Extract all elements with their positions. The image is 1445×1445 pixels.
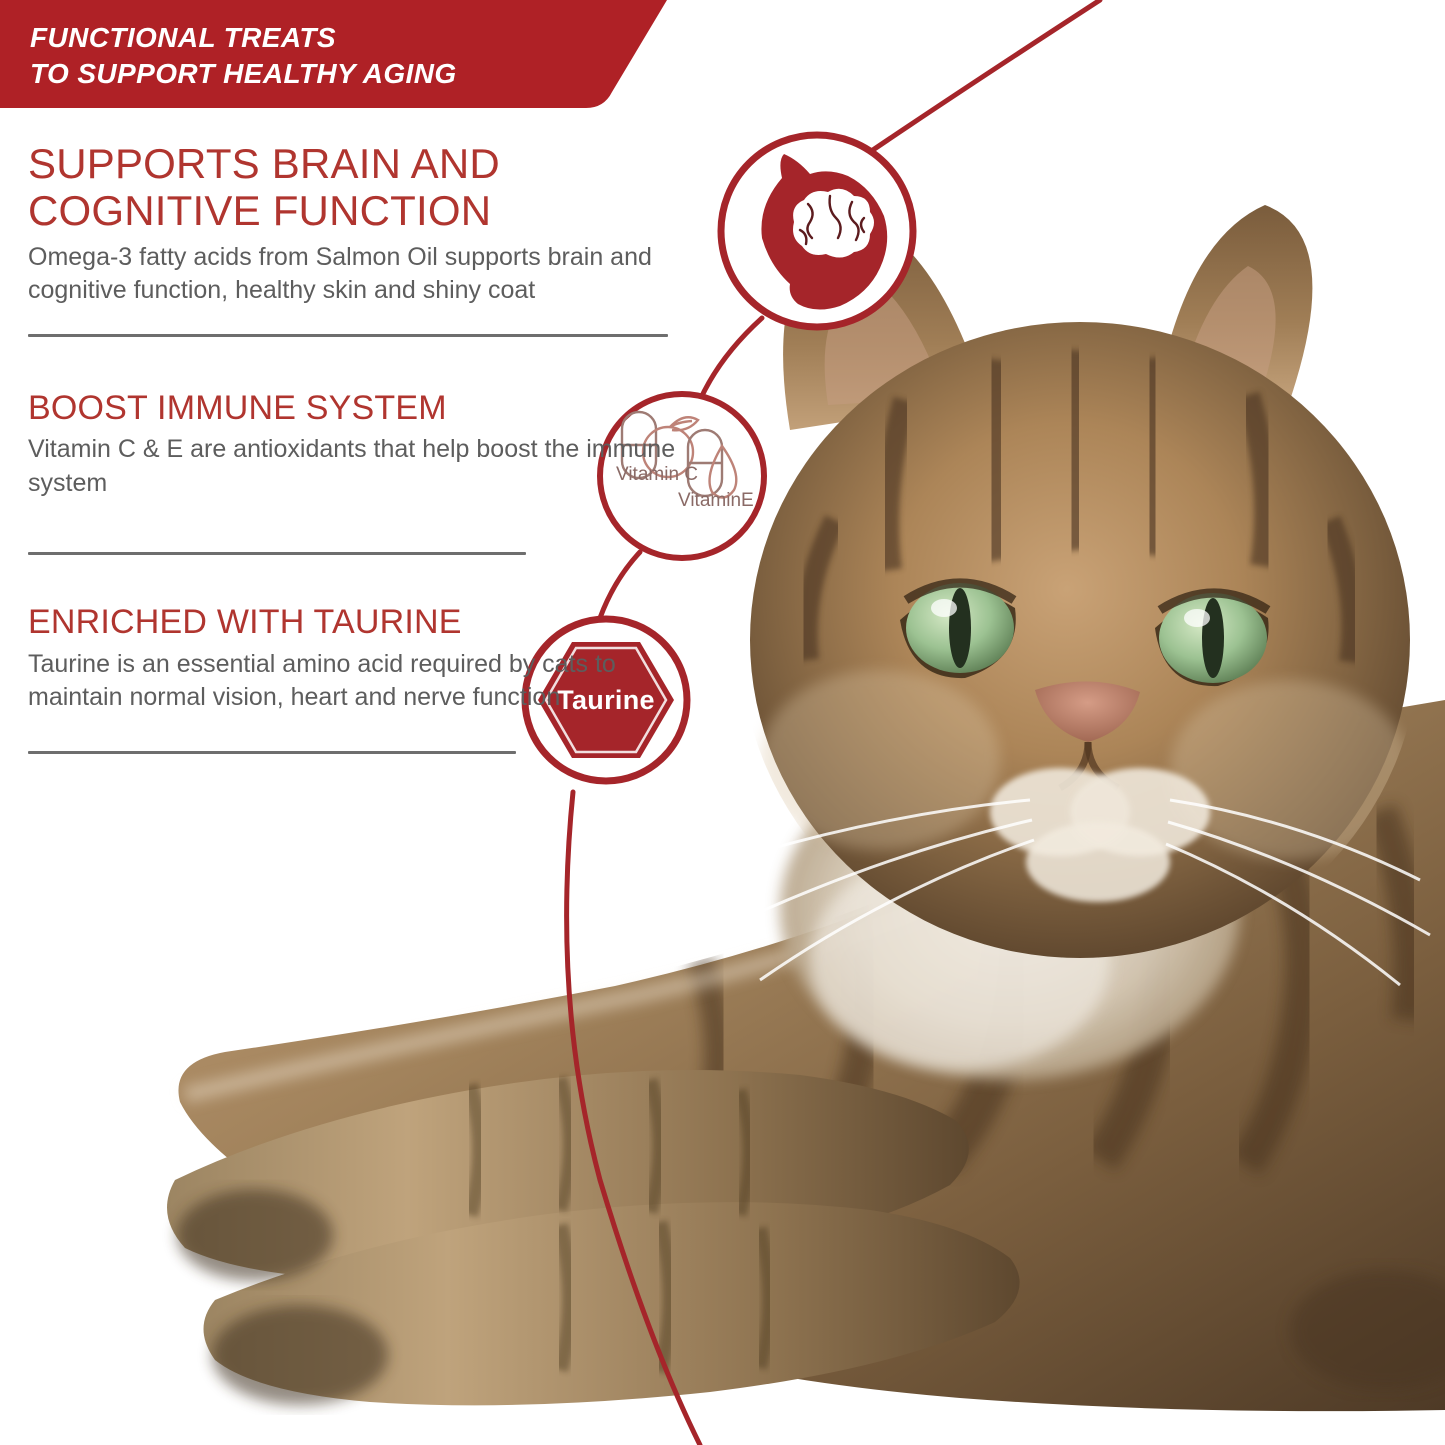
divider-3 — [28, 751, 516, 754]
feature-immune-body: Vitamin C & E are antioxidants that help… — [28, 433, 700, 500]
feature-taurine-body: Taurine is an essential amino acid requi… — [28, 648, 700, 715]
feature-immune: BOOST IMMUNE SYSTEM Vitamin C & E are an… — [0, 337, 700, 555]
feature-taurine: ENRICHED WITH TAURINE Taurine is an esse… — [0, 555, 700, 753]
cat-head-brain-icon — [712, 126, 922, 336]
banner-line-1: FUNCTIONAL TREATS — [30, 20, 457, 56]
banner-line-2: TO SUPPORT HEALTHY AGING — [30, 56, 457, 92]
feature-taurine-heading: ENRICHED WITH TAURINE — [28, 603, 700, 641]
badge-brain[interactable] — [712, 126, 922, 336]
feature-immune-heading: BOOST IMMUNE SYSTEM — [28, 389, 700, 427]
feature-brain-heading: SUPPORTS BRAIN AND COGNITIVE FUNCTION — [28, 140, 700, 235]
feature-brain-body: Omega-3 fatty acids from Salmon Oil supp… — [28, 241, 700, 308]
feature-list: SUPPORTS BRAIN AND COGNITIVE FUNCTION Om… — [0, 140, 700, 754]
banner-text: FUNCTIONAL TREATS TO SUPPORT HEALTHY AGI… — [30, 20, 457, 92]
infographic-canvas: Vitamin C VitaminE Taurine FUNCTIONAL TR… — [0, 0, 1445, 1445]
feature-brain: SUPPORTS BRAIN AND COGNITIVE FUNCTION Om… — [0, 140, 700, 337]
